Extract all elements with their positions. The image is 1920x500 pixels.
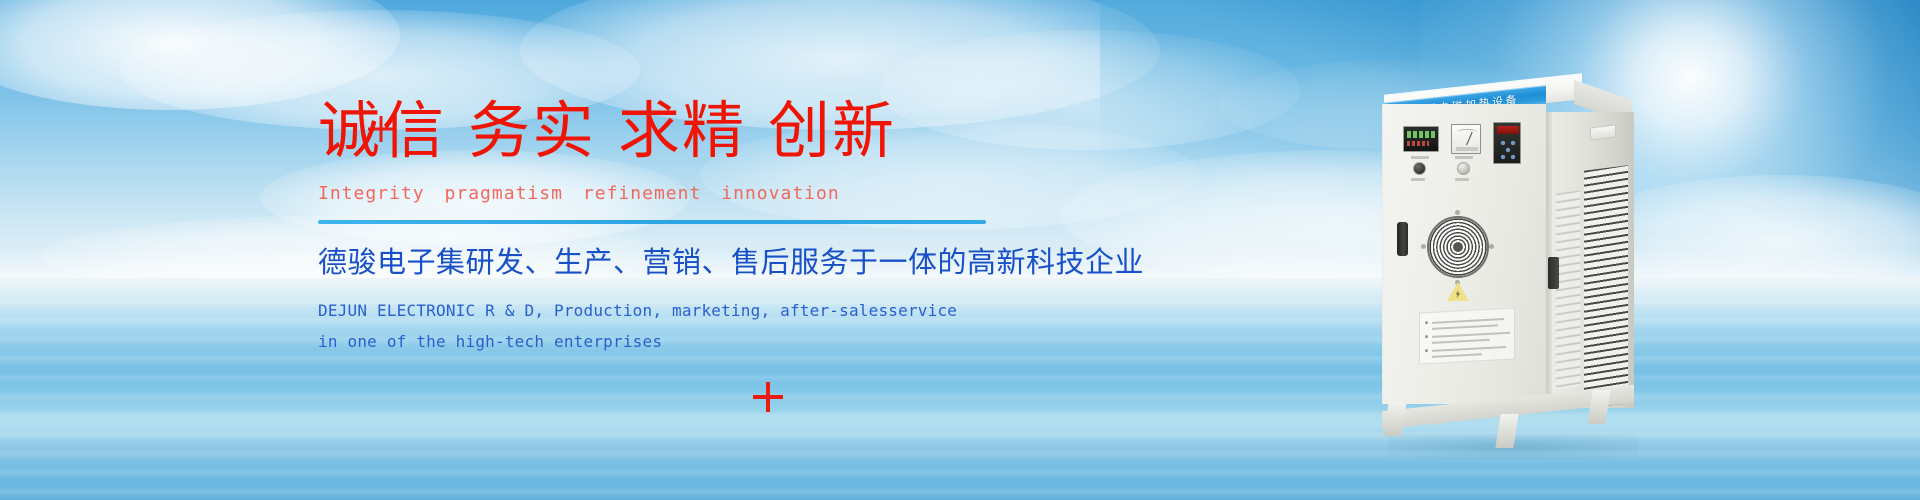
- headline-word-1: 诚信: [318, 94, 446, 167]
- meter-scale-arc: [1457, 129, 1477, 138]
- machine-side-panel: [1546, 112, 1634, 408]
- meter-label-plate: [1456, 147, 1478, 151]
- keypad-buttons-icon: [1499, 140, 1517, 160]
- machine-leg: [1587, 390, 1610, 424]
- headline-word-4: 创新: [768, 94, 896, 167]
- notice-line: [1432, 339, 1490, 344]
- machine-front-panel: [1382, 104, 1546, 404]
- headline-translation: Integritypragmatismrefinementinnovation: [318, 183, 1038, 204]
- selector-knob: [1413, 162, 1426, 175]
- notice-line: [1432, 346, 1506, 351]
- side-louver-vents-secondary-icon: [1556, 191, 1580, 390]
- notice-bullet: [1425, 321, 1428, 324]
- plus-mark-icon: [753, 382, 783, 412]
- safety-notice-label: [1419, 307, 1515, 364]
- headline-word-2: 务实: [468, 94, 596, 167]
- keypad-display: [1497, 126, 1519, 134]
- side-louver-vents-icon: [1584, 165, 1628, 408]
- subline-word-1: Integrity: [318, 183, 425, 204]
- machine-leg: [1383, 402, 1406, 436]
- tagline-chinese: 德骏电子集研发、生产、营销、售后服务于一体的高新科技企业: [318, 246, 1038, 279]
- subline-word-4: innovation: [721, 183, 839, 204]
- promo-banner: 诚信务实求精创新 Integritypragmatismrefinementin…: [0, 0, 1920, 500]
- fan-screw: [1455, 210, 1460, 215]
- notice-bullet: [1425, 349, 1428, 352]
- subline-word-3: refinement: [583, 183, 701, 204]
- digital-readout-display: [1403, 126, 1439, 152]
- tagline-english: DEJUN ELECTRONIC R & D, Production, mark…: [318, 296, 958, 357]
- panel-caption: [1411, 156, 1429, 159]
- side-sticker: [1590, 124, 1616, 140]
- headline-word-3: 求精: [618, 94, 746, 167]
- analog-meter-gauge: [1451, 124, 1481, 154]
- subline-word-2: pragmatism: [445, 183, 563, 204]
- high-voltage-warning-icon: [1447, 282, 1469, 301]
- digital-segment-red: [1407, 141, 1429, 146]
- control-keypad: [1493, 122, 1521, 164]
- notice-bullet: [1425, 335, 1428, 338]
- notice-line: [1432, 318, 1504, 323]
- fan-screw: [1421, 244, 1426, 249]
- notice-line: [1432, 353, 1482, 357]
- headline-slogan: 诚信务实求精创新: [318, 100, 1038, 162]
- exhaust-fan-grille-icon: [1427, 216, 1489, 278]
- divider-rule: [318, 220, 986, 224]
- digital-segment-green: [1407, 131, 1436, 138]
- notice-line: [1432, 324, 1498, 329]
- panel-caption: [1455, 156, 1473, 159]
- product-image-heating-machine: 新型电磁加热设备: [1378, 62, 1678, 482]
- side-handle: [1548, 257, 1559, 289]
- door-handle: [1397, 222, 1408, 256]
- fan-screw: [1489, 244, 1494, 249]
- notice-line: [1432, 332, 1510, 338]
- banner-copy: 诚信务实求精创新 Integritypragmatismrefinementin…: [318, 100, 1038, 357]
- adjust-knob: [1457, 162, 1470, 175]
- panel-caption: [1411, 178, 1425, 181]
- panel-caption: [1455, 178, 1469, 181]
